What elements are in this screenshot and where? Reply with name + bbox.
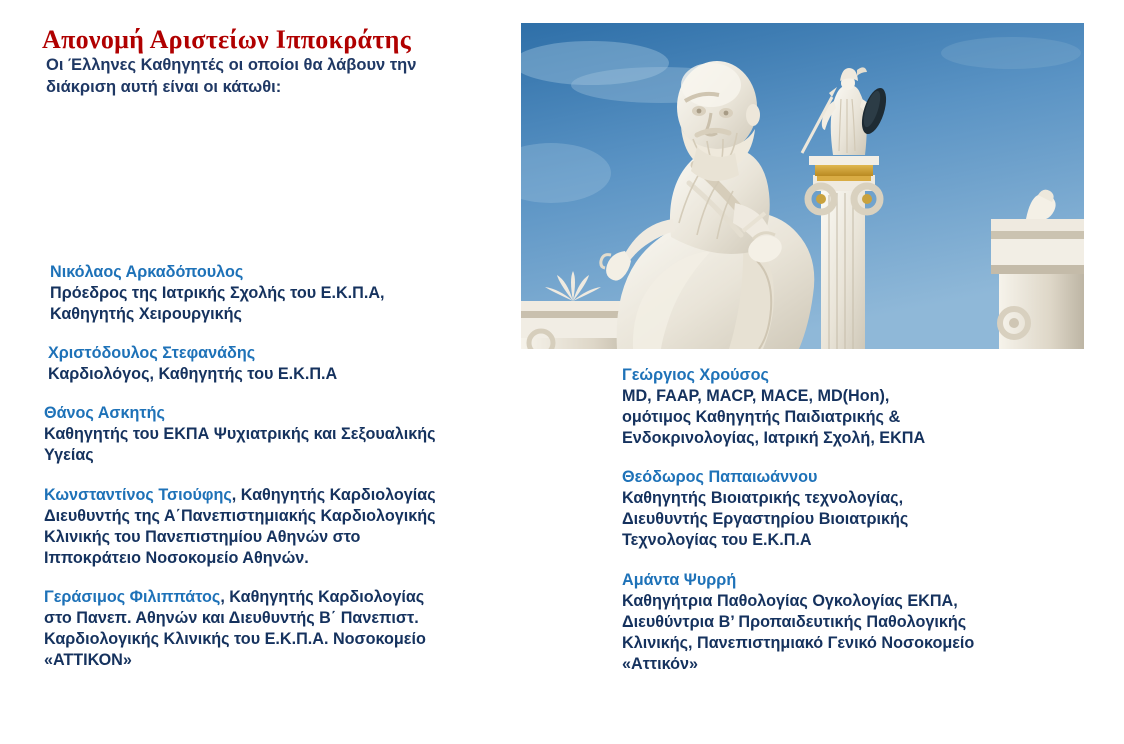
honoree-entry: Θεόδωρος Παπαιωάννου Καθηγητής Βιοιατρικ… <box>622 467 1116 551</box>
statue-photo <box>521 23 1084 349</box>
honoree-detail: Διευθυντής Εργαστηρίου Βιοιατρικής <box>622 509 1116 530</box>
page-subtitle: Οι Έλληνες Καθηγητές οι οποίοι θα λάβουν… <box>46 55 540 99</box>
honoree-entry: Θάνος Ασκητής Καθηγητής του ΕΚΠΑ Ψυχιατρ… <box>44 403 574 466</box>
statue-photo-illustration <box>521 23 1084 349</box>
honoree-name: Θάνος Ασκητής <box>44 404 165 422</box>
honoree-detail: ομότιμος Καθηγητής Παιδιατρικής & <box>622 407 1116 428</box>
honoree-entry: Αμάντα Ψυρρή Καθηγήτρια Παθολογίας Ογκολ… <box>622 570 1116 675</box>
honoree-name-line: Θάνος Ασκητής <box>44 403 574 424</box>
honoree-detail: Καθηγητής Χειρουργικής <box>50 304 574 325</box>
honoree-name-line: Κωνσταντίνος Τσιούφης, Καθηγητής Καρδιολ… <box>44 485 574 506</box>
honoree-detail: Καθηγήτρια Παθολογίας Ογκολογίας ΕΚΠΑ, <box>622 591 1116 612</box>
honoree-entry: Γεράσιμος Φιλιππάτος, Καθηγητής Καρδιολο… <box>44 587 574 671</box>
honoree-detail: Κλινικής, Πανεπιστημιακό Γενικό Νοσοκομε… <box>622 633 1116 654</box>
honoree-detail: Καθηγητής Βιοιατρικής τεχνολογίας, <box>622 488 1116 509</box>
honoree-inline-detail: Καθηγητής Καρδιολογίας <box>225 588 424 606</box>
honoree-inline-detail: Καθηγητής Καρδιολογίας <box>236 486 435 504</box>
honoree-detail: Τεχνολογίας του Ε.Κ.Π.Α <box>622 530 1116 551</box>
honoree-entry: Χριστόδουλος Στεφανάδης Καρδιολόγος, Καθ… <box>48 343 574 385</box>
honoree-name: Κωνσταντίνος Τσιούφης <box>44 486 232 504</box>
honoree-name-line: Νικόλαος Αρκαδόπουλος <box>50 262 574 283</box>
honoree-detail: Καθηγητής του ΕΚΠΑ Ψυχιατρικής και Σεξου… <box>44 424 574 445</box>
page-title: Απονομή Αριστείων Ιπποκράτης <box>42 26 540 53</box>
left-column: Νικόλαος Αρκαδόπουλος Πρόεδρος της Ιατρι… <box>44 262 574 671</box>
honoree-detail: Ιπποκράτειο Νοσοκομείο Αθηνών. <box>44 548 574 569</box>
honoree-detail: Πρόεδρος της Ιατρικής Σχολής του Ε.Κ.Π.Α… <box>50 283 574 304</box>
page-subtitle-line-1: Οι Έλληνες Καθηγητές οι οποίοι θα λάβουν… <box>46 55 540 77</box>
right-column: Γεώργιος Χρούσος MD, FAAP, MACP, MACE, M… <box>616 365 1116 675</box>
slide-canvas: Απονομή Αριστείων Ιπποκράτης Οι Έλληνες … <box>0 0 1124 744</box>
honoree-name: Αμάντα Ψυρρή <box>622 571 736 589</box>
honoree-detail: Κλινικής του Πανεπιστημίου Αθηνών στο <box>44 527 574 548</box>
honoree-detail: Διευθύντρια Β’ Προπαιδευτικής Παθολογική… <box>622 612 1116 633</box>
honoree-detail: Ενδοκρινολογίας, Ιατρική Σχολή, ΕΚΠΑ <box>622 428 1116 449</box>
honoree-name-line: Γεώργιος Χρούσος <box>622 365 1116 386</box>
header-block: Απονομή Αριστείων Ιπποκράτης Οι Έλληνες … <box>40 26 540 99</box>
honoree-detail: Καρδιολόγος, Καθηγητής του Ε.Κ.Π.Α <box>48 364 574 385</box>
honoree-name-line: Γεράσιμος Φιλιππάτος, Καθηγητής Καρδιολο… <box>44 587 574 608</box>
honoree-entry: Γεώργιος Χρούσος MD, FAAP, MACP, MACE, M… <box>622 365 1116 449</box>
honoree-detail: «ΑΤΤΙΚΟΝ» <box>44 650 574 671</box>
honoree-name-line: Αμάντα Ψυρρή <box>622 570 1116 591</box>
honoree-name: Νικόλαος Αρκαδόπουλος <box>50 263 243 281</box>
honoree-entry: Νικόλαος Αρκαδόπουλος Πρόεδρος της Ιατρι… <box>50 262 574 325</box>
honoree-name-line: Χριστόδουλος Στεφανάδης <box>48 343 574 364</box>
page-subtitle-line-2: διάκριση αυτή είναι οι κάτωθι: <box>46 77 540 99</box>
honoree-detail: στο Πανεπ. Αθηνών και Διευθυντής Β΄ Πανε… <box>44 608 574 629</box>
honoree-name: Θεόδωρος Παπαιωάννου <box>622 468 817 486</box>
honoree-name: Χριστόδουλος Στεφανάδης <box>48 344 255 362</box>
honoree-detail: Υγείας <box>44 445 574 466</box>
honoree-detail: «Αττικόν» <box>622 654 1116 675</box>
honoree-entry: Κωνσταντίνος Τσιούφης, Καθηγητής Καρδιολ… <box>44 485 574 569</box>
honoree-detail: Καρδιολογικής Κλινικής του Ε.Κ.Π.Α. Νοσο… <box>44 629 574 650</box>
honoree-name: Γεράσιμος Φιλιππάτος <box>44 588 220 606</box>
honoree-detail: Διευθυντής της Α΄Πανεπιστημιακής Καρδιολ… <box>44 506 574 527</box>
honoree-detail: MD, FAAP, MACP, MACE, MD(Hon), <box>622 386 1116 407</box>
honoree-name: Γεώργιος Χρούσος <box>622 366 769 384</box>
honoree-name-line: Θεόδωρος Παπαιωάννου <box>622 467 1116 488</box>
